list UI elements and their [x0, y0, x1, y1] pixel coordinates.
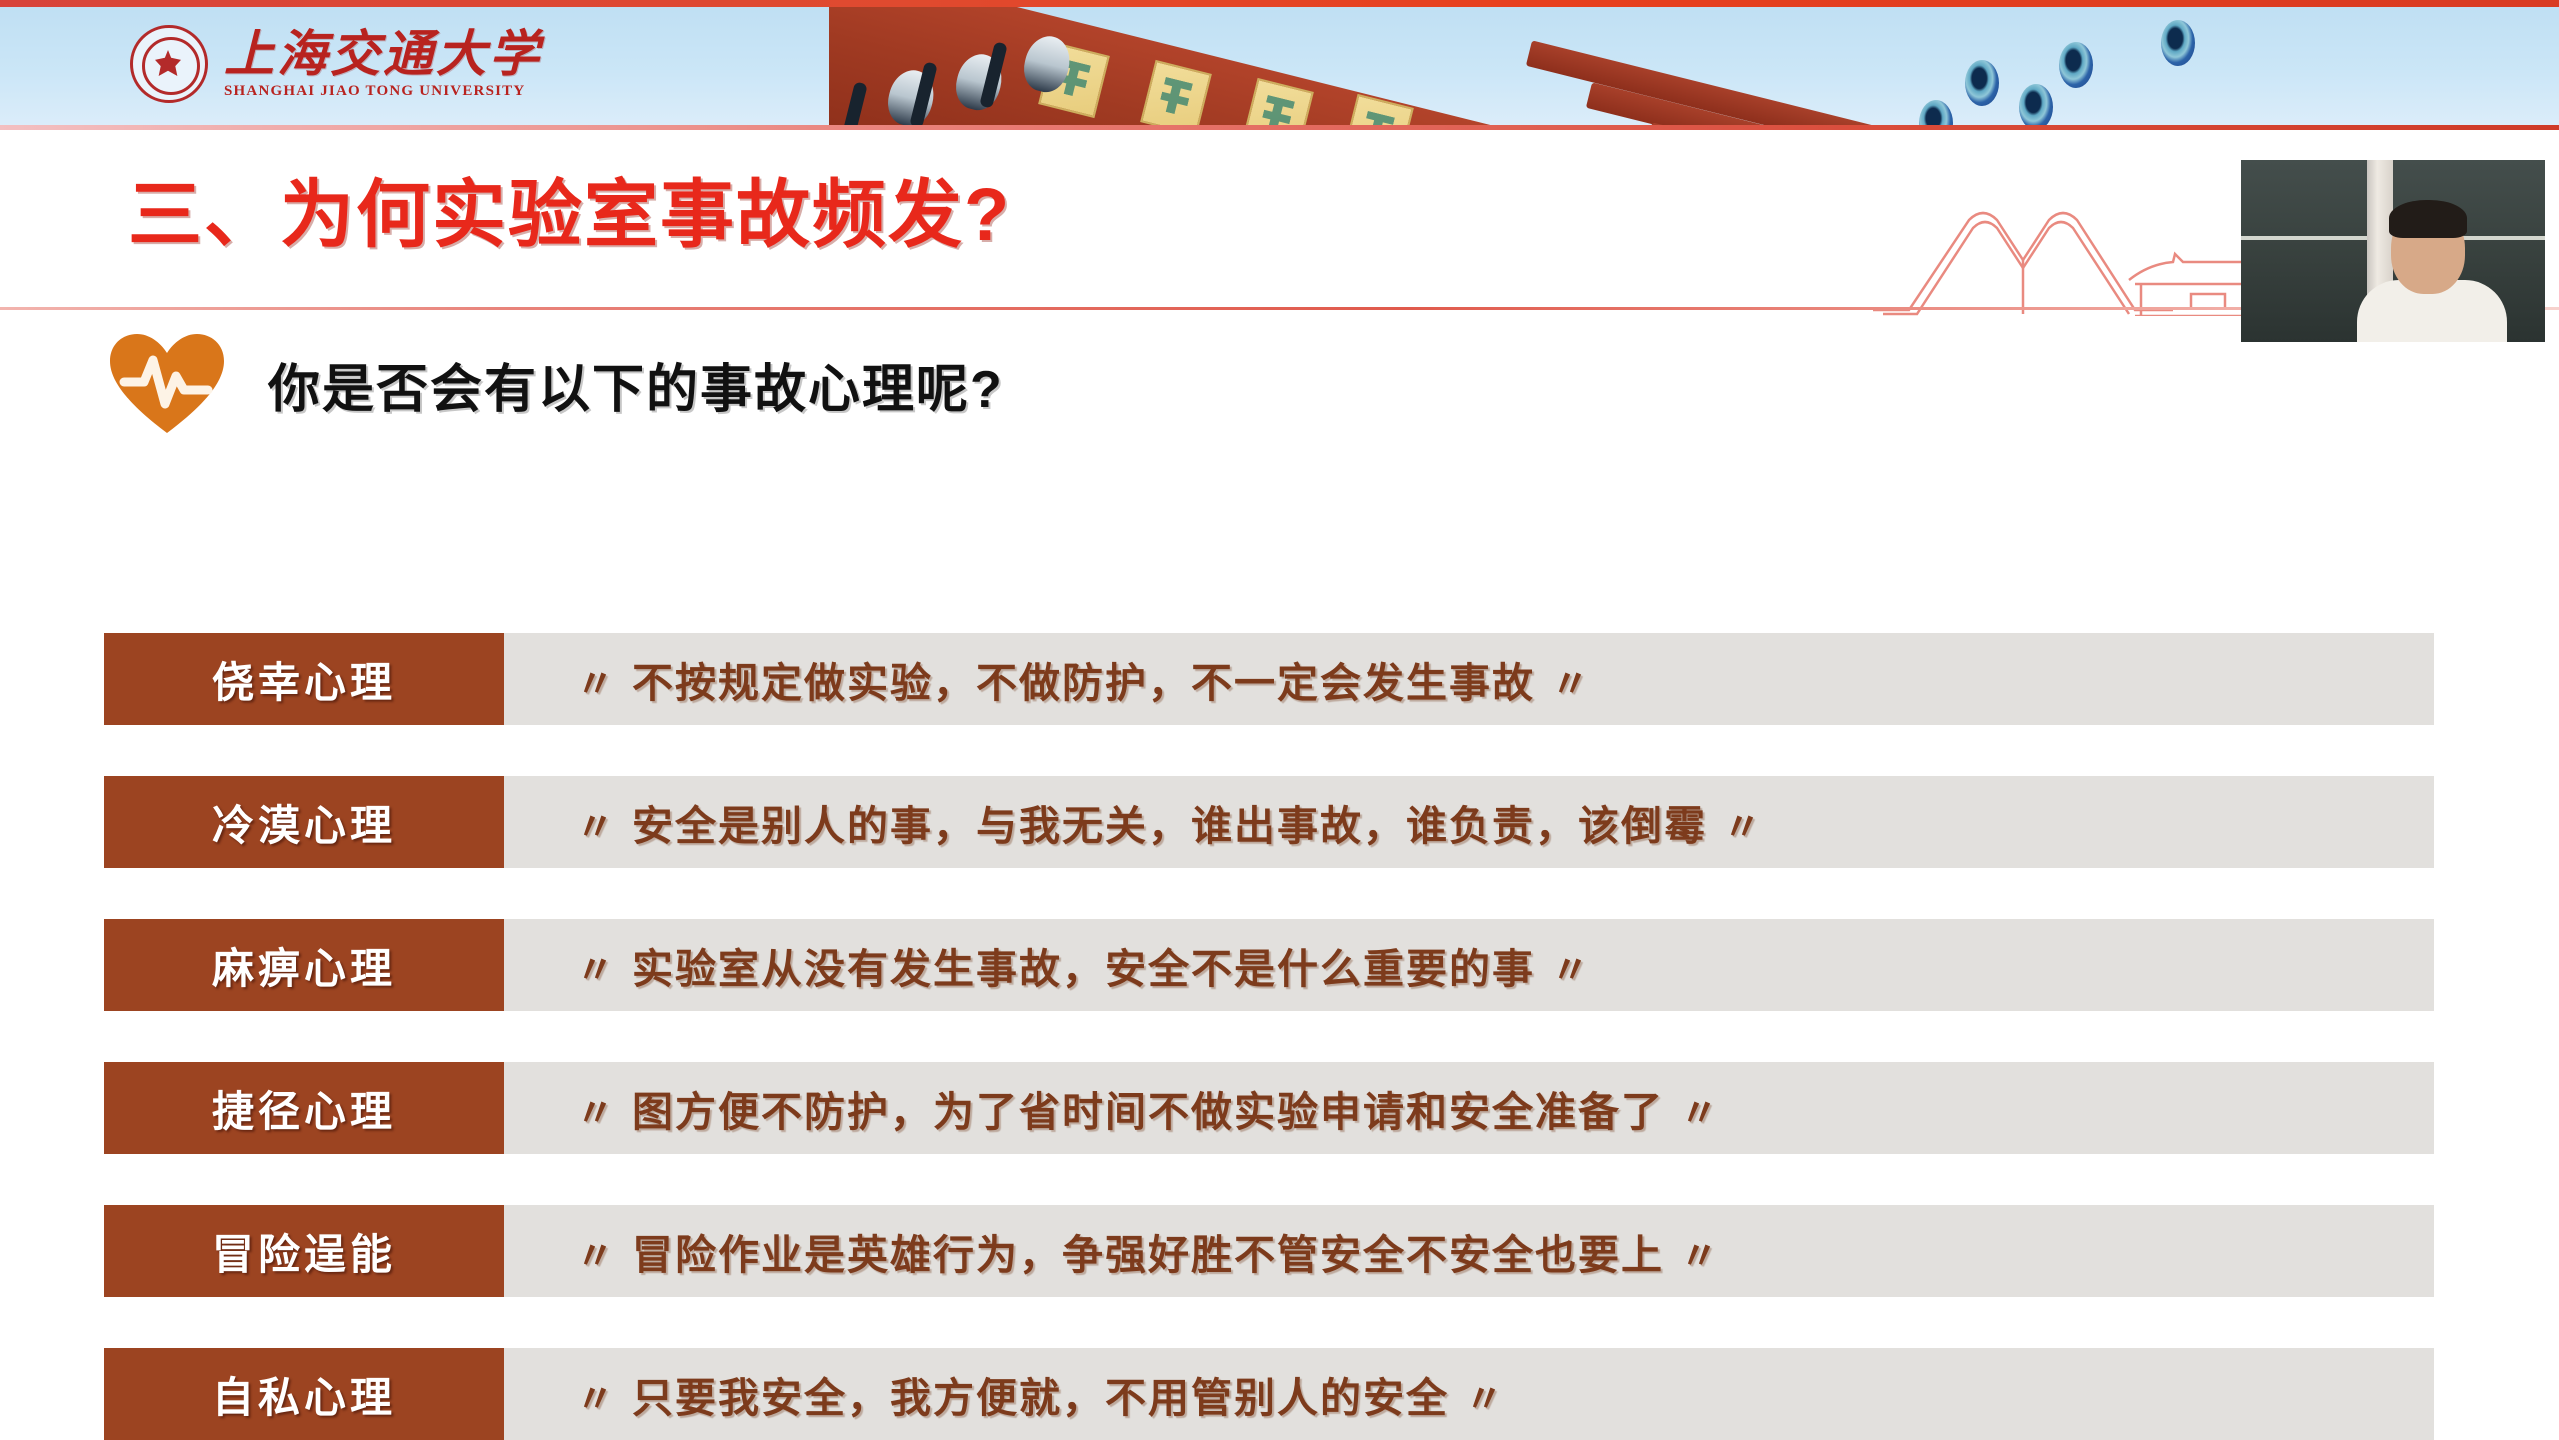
open-quote-mark: 〃	[560, 796, 632, 851]
banner-temple-roof-photo	[829, 4, 2559, 128]
open-quote-mark: 〃	[560, 1082, 632, 1137]
heartbeat-icon	[108, 332, 226, 436]
row-label-badge: 捷径心理	[104, 1062, 504, 1154]
row-quote-cell: 〃只要我安全，我方便就，不用管别人的安全〃	[504, 1348, 2434, 1440]
gate-art-svg	[1873, 198, 2293, 316]
open-quote-mark: 〃	[560, 939, 632, 994]
quote-body: 安全是别人的事，与我无关，谁出事故，谁负责，该倒霉	[632, 803, 1707, 849]
open-quote-mark: 〃	[560, 1225, 632, 1280]
page-title: 三、为何实验室事故频发?	[128, 178, 1011, 252]
beam-eye-medallion	[2059, 42, 2093, 88]
quote-body: 图方便不防护，为了省时间不做实验申请和安全准备了	[632, 1089, 1664, 1135]
close-quote-mark: 〃	[1535, 653, 1607, 708]
quote-body: 只要我安全，我方便就，不用管别人的安全	[632, 1375, 1449, 1421]
banner-bottom-rule	[0, 125, 2559, 130]
close-quote-mark: 〃	[1664, 1225, 1736, 1280]
row-label-badge: 冒险逞能	[104, 1205, 504, 1297]
close-quote-mark: 〃	[1664, 1082, 1736, 1137]
title-separator-rule	[0, 307, 2559, 310]
row-quote-cell: 〃不按规定做实验，不做防护，不一定会发生事故〃	[504, 633, 2434, 725]
beam-eye-medallion	[2019, 84, 2053, 128]
open-quote-mark: 〃	[560, 1368, 632, 1423]
row-quote-text: 〃图方便不防护，为了省时间不做实验申请和安全准备了〃	[560, 1078, 1736, 1138]
subtitle-text: 你是否会有以下的事故心理呢?	[268, 347, 1004, 422]
university-name-en: SHANGHAI JIAO TONG UNIVERSITY	[224, 83, 542, 100]
row-quote-cell: 〃冒险作业是英雄行为，争强好胜不管安全不安全也要上〃	[504, 1205, 2434, 1297]
row-label-badge: 自私心理	[104, 1348, 504, 1440]
university-logo: 上海交通大学 SHANGHAI JIAO TONG UNIVERSITY	[130, 14, 542, 114]
beam-eye-medallion	[1919, 100, 1953, 128]
beam-eye-medallion	[2161, 20, 2195, 66]
presenter-hair	[2389, 200, 2467, 238]
campus-gate-line-art-icon	[1873, 198, 2293, 316]
close-quote-mark: 〃	[1449, 1368, 1521, 1423]
heartbeat-icon-svg	[108, 332, 226, 436]
subtitle-row: 你是否会有以下的事故心理呢?	[108, 332, 1004, 436]
close-quote-mark: 〃	[1707, 796, 1779, 851]
presenter-video-overlay[interactable]	[2241, 160, 2545, 342]
beam-eye-medallion	[1965, 60, 1999, 106]
row-quote-text: 〃冒险作业是英雄行为，争强好胜不管安全不安全也要上〃	[560, 1221, 1736, 1281]
university-name-cn: 上海交通大学	[224, 29, 542, 79]
row-quote-cell: 〃图方便不防护，为了省时间不做实验申请和安全准备了〃	[504, 1062, 2434, 1154]
table-row: 冒险逞能 〃冒险作业是英雄行为，争强好胜不管安全不安全也要上〃	[104, 1205, 2434, 1297]
banner-top-rule	[0, 0, 2559, 7]
quote-body: 实验室从没有发生事故，安全不是什么重要的事	[632, 946, 1535, 992]
university-name-block: 上海交通大学 SHANGHAI JIAO TONG UNIVERSITY	[224, 29, 542, 100]
psychology-rows-table: 侥幸心理 〃不按规定做实验，不做防护，不一定会发生事故〃 冷漠心理 〃安全是别人…	[104, 633, 2434, 1440]
row-label-badge: 冷漠心理	[104, 776, 504, 868]
table-row: 捷径心理 〃图方便不防护，为了省时间不做实验申请和安全准备了〃	[104, 1062, 2434, 1154]
row-quote-cell: 〃安全是别人的事，与我无关，谁出事故，谁负责，该倒霉〃	[504, 776, 2434, 868]
table-row: 侥幸心理 〃不按规定做实验，不做防护，不一定会发生事故〃	[104, 633, 2434, 725]
row-quote-text: 〃安全是别人的事，与我无关，谁出事故，谁负责，该倒霉〃	[560, 792, 1779, 852]
row-quote-cell: 〃实验室从没有发生事故，安全不是什么重要的事〃	[504, 919, 2434, 1011]
table-row: 自私心理 〃只要我安全，我方便就，不用管别人的安全〃	[104, 1348, 2434, 1440]
table-row: 麻痹心理 〃实验室从没有发生事故，安全不是什么重要的事〃	[104, 919, 2434, 1011]
quote-body: 不按规定做实验，不做防护，不一定会发生事故	[632, 660, 1535, 706]
header-banner: 上海交通大学 SHANGHAI JIAO TONG UNIVERSITY	[0, 0, 2559, 130]
table-row: 冷漠心理 〃安全是别人的事，与我无关，谁出事故，谁负责，该倒霉〃	[104, 776, 2434, 868]
open-quote-mark: 〃	[560, 653, 632, 708]
row-quote-text: 〃实验室从没有发生事故，安全不是什么重要的事〃	[560, 935, 1607, 995]
slide-body: 三、为何实验室事故频发? 你是否会有以下的事故心理呢?	[0, 130, 2559, 1376]
row-label-badge: 侥幸心理	[104, 633, 504, 725]
sjtu-seal-icon	[130, 25, 208, 103]
row-quote-text: 〃只要我安全，我方便就，不用管别人的安全〃	[560, 1364, 1521, 1424]
row-label-badge: 麻痹心理	[104, 919, 504, 1011]
quote-body: 冒险作业是英雄行为，争强好胜不管安全不安全也要上	[632, 1232, 1664, 1278]
close-quote-mark: 〃	[1535, 939, 1607, 994]
row-quote-text: 〃不按规定做实验，不做防护，不一定会发生事故〃	[560, 649, 1607, 709]
